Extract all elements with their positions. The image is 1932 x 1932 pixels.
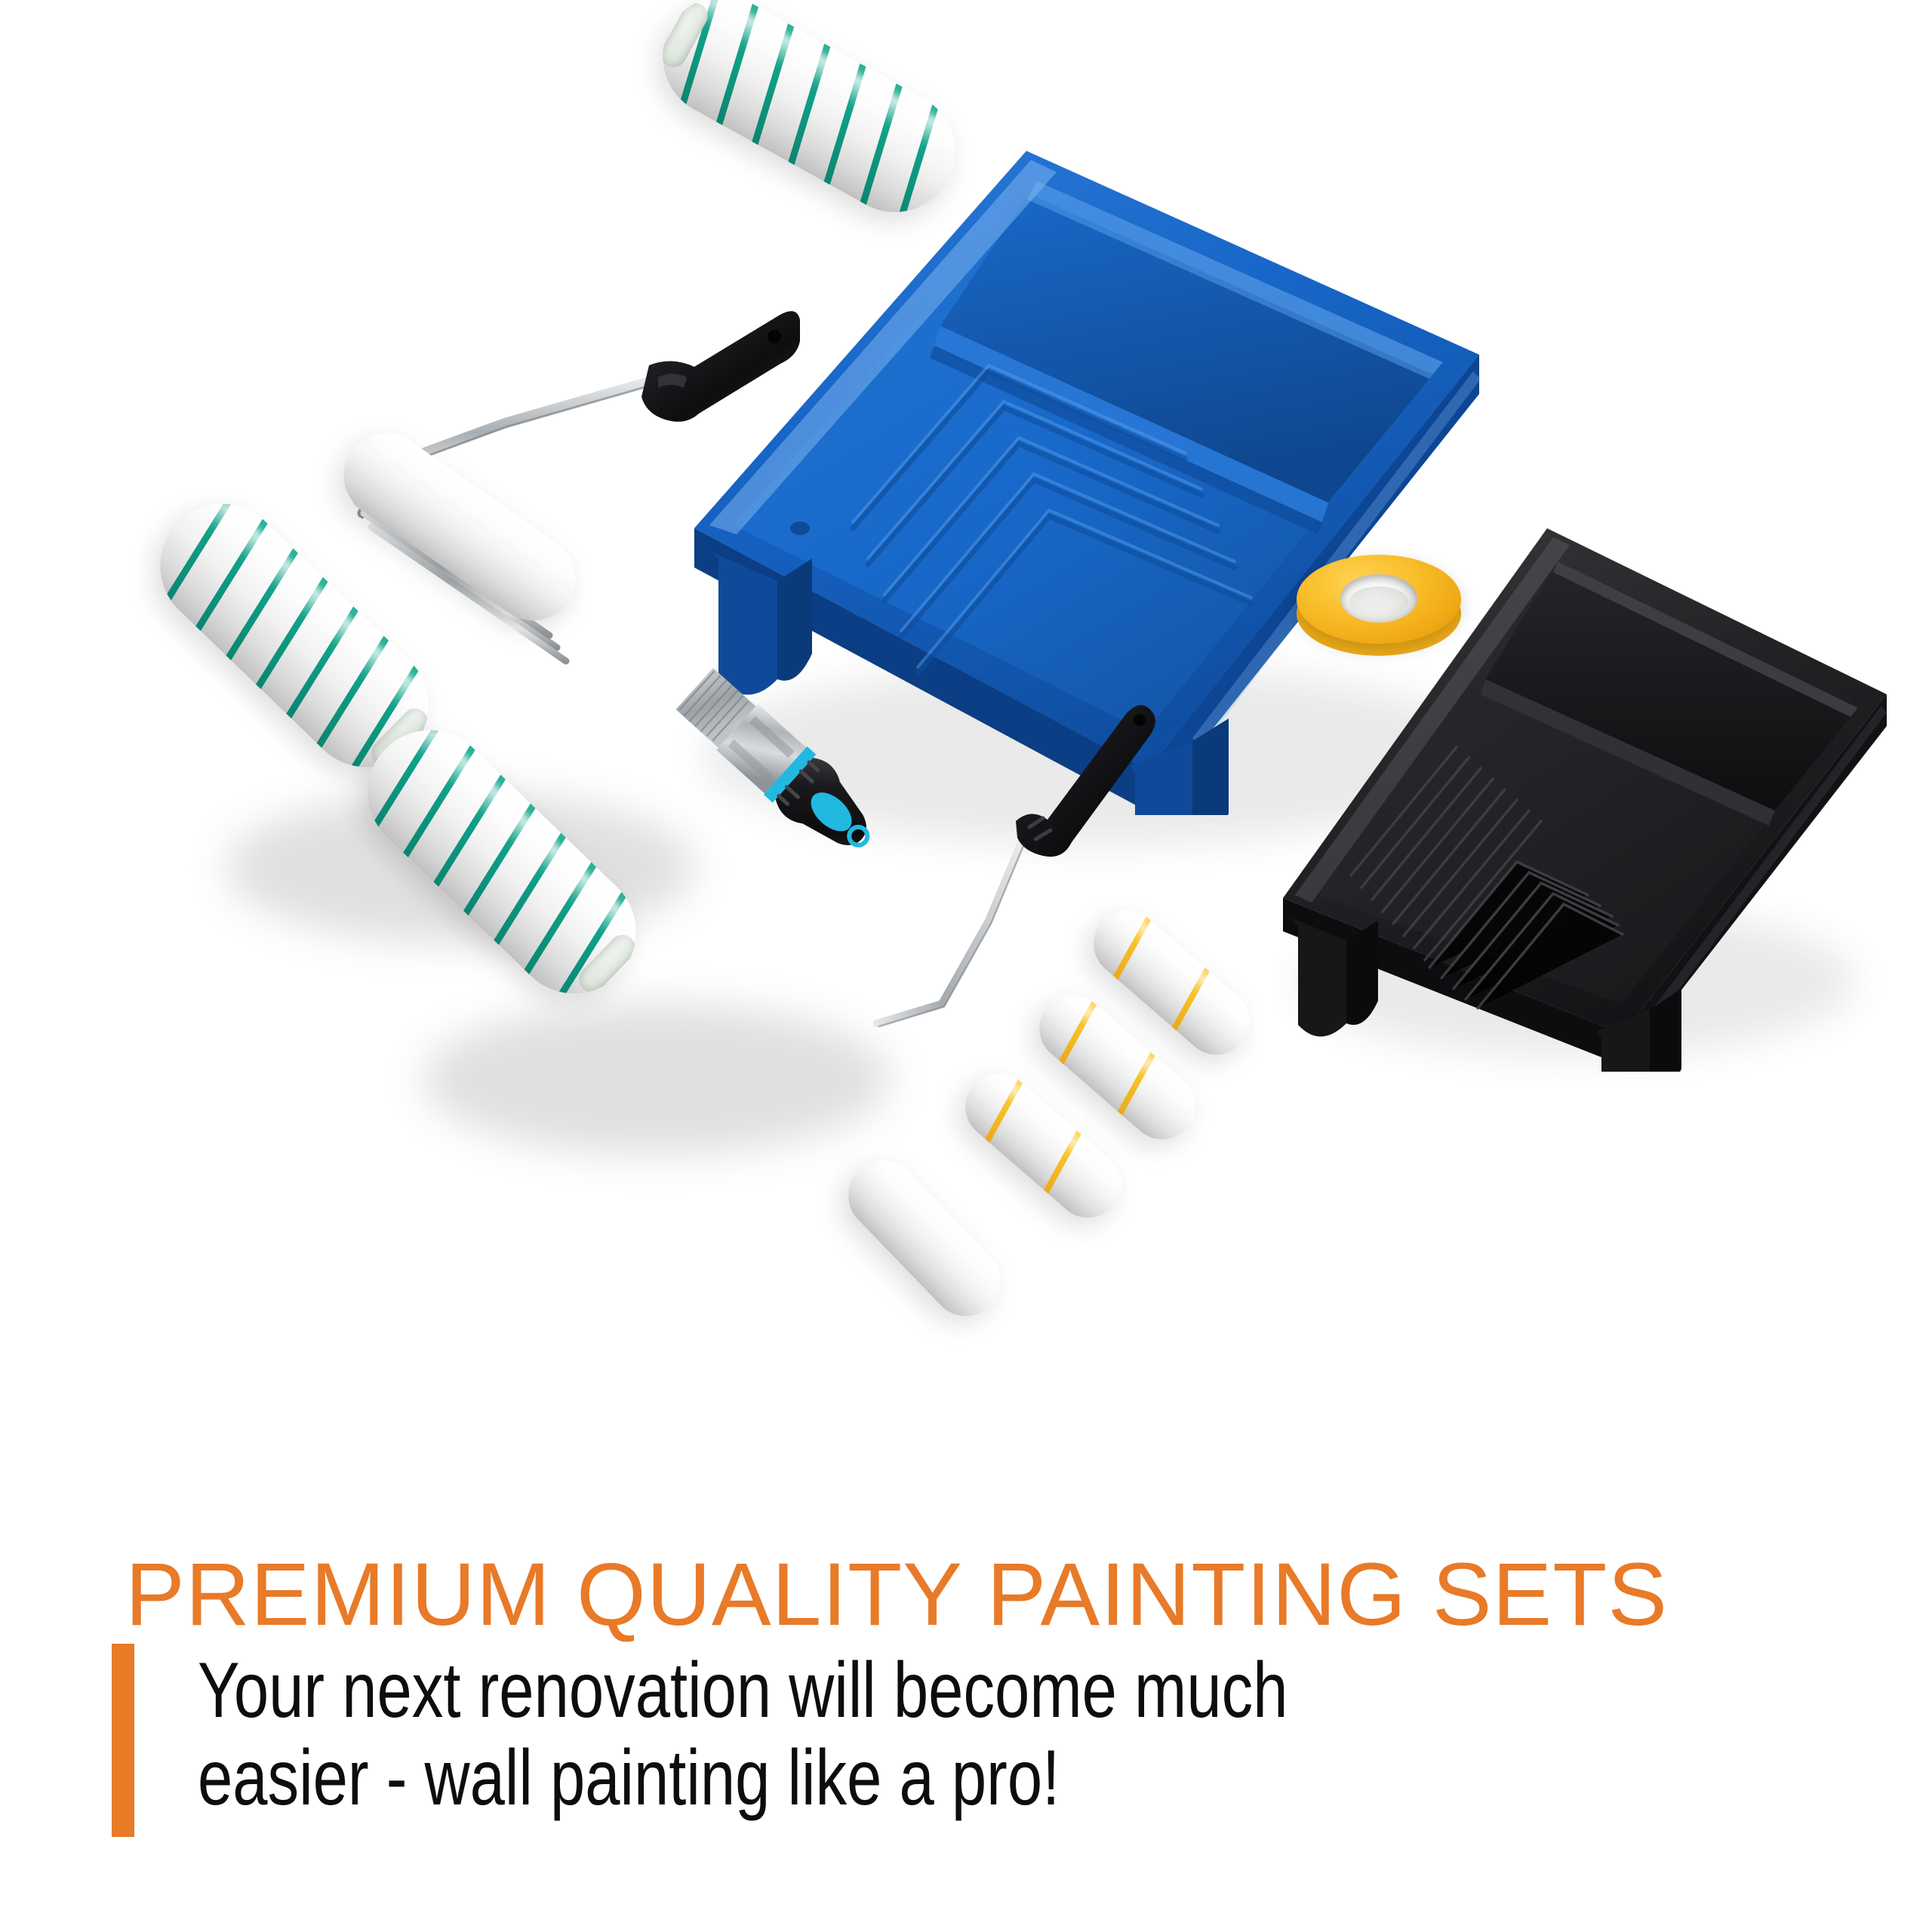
mini-roller-frame (845, 694, 1162, 1057)
subheadline-line-1: Your next renovation will become much (198, 1647, 1466, 1734)
sleeve-highlight (872, 1156, 1005, 1293)
tape-core-inner (1349, 586, 1408, 617)
masking-tape-roll (1297, 555, 1461, 660)
mini-roller-sleeve-plain-white (834, 1146, 1015, 1331)
product-photo (0, 0, 1932, 1532)
tape-core-hole (1340, 574, 1417, 623)
shadow (423, 1004, 891, 1155)
tape-top-face (1297, 555, 1461, 644)
accent-bar (112, 1644, 134, 1837)
subheadline: Your next renovation will become much ea… (198, 1647, 1466, 1823)
marketing-text-block: PREMIUM QUALITY PAINTING SETS Your next … (0, 1532, 1932, 1932)
headline: PREMIUM QUALITY PAINTING SETS (125, 1550, 1668, 1639)
subheadline-line-2: easier - wall painting like a pro! (198, 1734, 1466, 1822)
